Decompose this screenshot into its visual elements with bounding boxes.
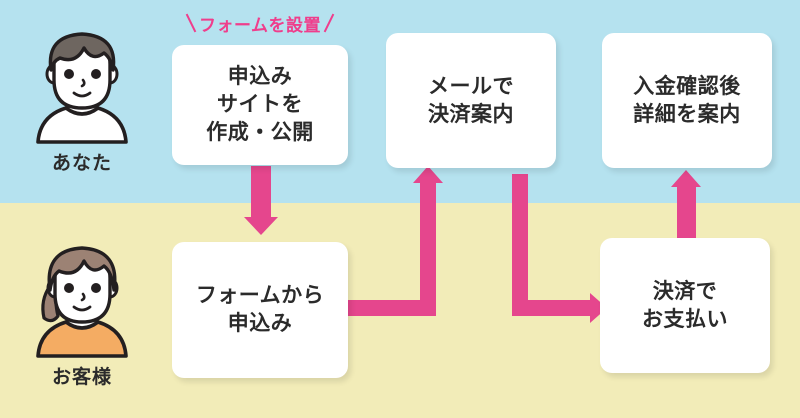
arrow-form-to-mail-head-icon [413,166,443,183]
avatar-you-icon [26,24,138,144]
card-apply-site[interactable]: 申込み サイトを 作成・公開 [172,45,348,165]
arrow-pay-to-confirm-stem [677,186,696,239]
avatar-customer-icon [26,238,138,358]
arrow-apply-site-to-form-stem [251,166,271,218]
arrow-mail-to-pay-vertical [512,174,528,316]
form-install-annotation: フォームを設置 [172,8,348,38]
card-mail-payment-guide[interactable]: メールで 決済案内 [386,33,556,168]
persona-you-label: あなた [52,148,112,175]
flow-diagram: あなた お客様 フォームを設置 [0,0,800,418]
card-make-payment[interactable]: 決済で お支払い [600,238,770,373]
persona-customer-label: お客様 [52,362,112,389]
annotation-right-slash-icon [324,14,335,33]
arrow-mail-to-pay-horizontal [512,300,594,316]
card-payment-confirmed-details[interactable]: 入金確認後 詳細を案内 [602,33,772,168]
annotation-left-slash-icon [186,14,197,33]
arrow-pay-to-confirm-head-icon [671,170,701,187]
annotation-text: フォームを設置 [199,11,321,36]
card-apply-from-form[interactable]: フォームから 申込み [172,242,348,378]
persona-you: あなた [12,24,152,175]
arrow-apply-site-to-form-head-icon [244,217,278,235]
persona-customer: お客様 [12,238,152,389]
arrow-form-to-mail-vertical [420,182,436,316]
